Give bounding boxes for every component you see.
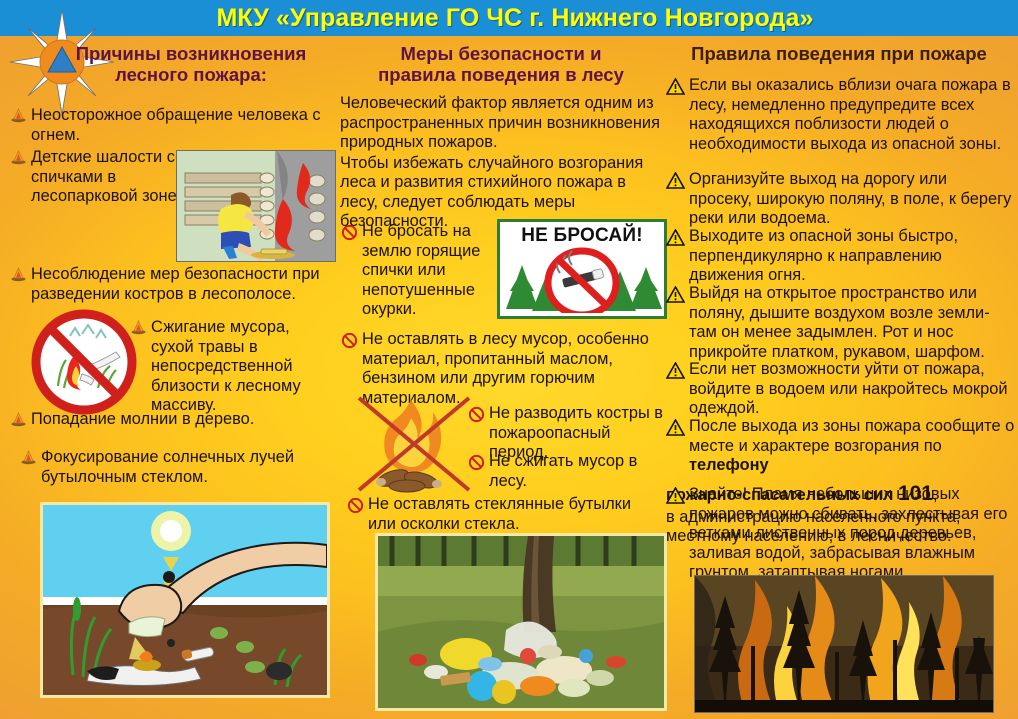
campfire-bullet-icon xyxy=(20,450,37,465)
image-boy-fire xyxy=(176,150,336,262)
image-no-littering-sign: НЕ БРОСАЙ! xyxy=(497,219,667,319)
campfire-bullet-icon xyxy=(10,267,27,282)
cause-item-1: Неосторожное обращение человека с огнем. xyxy=(10,106,328,145)
behaviour-heading: Правила поведения при пожаре xyxy=(664,44,1014,65)
warning-triangle-bullet-icon xyxy=(666,172,685,189)
behaviour-item-5: Если нет возможности уйти от пожара, вой… xyxy=(666,360,1014,419)
campfire-bullet-icon xyxy=(10,108,27,123)
prohibition-bullet-icon xyxy=(468,454,485,471)
sign-label: НЕ БРОСАЙ! xyxy=(500,225,664,247)
poster-root: МКУ «Управление ГО ЧС г. Нижнего Новгоро… xyxy=(0,0,1018,719)
cause-item-3: Несоблюдение мер безопасности при развед… xyxy=(10,265,330,304)
warning-triangle-bullet-icon xyxy=(666,487,685,504)
behaviour-item-2: Организуйте выход на дорогу или просеку,… xyxy=(666,170,1014,229)
column-fire-behaviour: Правила поведения при пожаре xyxy=(664,44,1014,65)
column-safety-measures: Меры безопасности и правила поведения в … xyxy=(340,44,662,85)
campfire-bullet-icon xyxy=(10,412,27,427)
prohibition-bullet-icon xyxy=(341,332,358,349)
image-sun-through-glass xyxy=(40,502,330,698)
safety-item-1: Не бросать на землю горящие спички или н… xyxy=(341,222,493,320)
warning-triangle-bullet-icon xyxy=(666,362,685,379)
campfire-bullet-icon xyxy=(10,150,27,165)
behaviour-item-1: Если вы оказались вблизи очага пожара в … xyxy=(666,76,1014,154)
image-litter-in-forest xyxy=(375,533,667,711)
safety-item-4: Не сжигать мусор в лесу. xyxy=(468,452,668,491)
behaviour-know-item: Знайте! Пламя небольших низовых пожаров … xyxy=(666,485,1014,583)
warning-triangle-bullet-icon xyxy=(666,286,685,303)
warning-triangle-bullet-icon xyxy=(666,419,685,436)
emergency-bold-phone: телефону xyxy=(689,456,769,474)
image-forest-fire xyxy=(694,575,994,713)
cause-item-2: Детские шалости со спичками в лесопарков… xyxy=(10,148,185,207)
behaviour-item-4: Выйдя на открытое пространство или полян… xyxy=(666,284,1016,362)
emergency-lead: После выхода из зоны пожара сообщите о м… xyxy=(689,417,1014,455)
warning-triangle-bullet-icon xyxy=(666,229,685,246)
cause-item-6: Фокусирование солнечных лучей бутылочным… xyxy=(20,448,332,487)
safety-item-5: Не оставлять стеклянные бутылки или оско… xyxy=(347,495,657,534)
prohibition-bullet-icon xyxy=(347,497,364,514)
image-no-campfire xyxy=(355,392,473,496)
safety-intro: Человеческий фактор является одним из ра… xyxy=(340,94,666,233)
warning-triangle-bullet-icon xyxy=(666,78,685,95)
column-causes: Причины возникновения лесного пожара: xyxy=(8,44,338,85)
cause-item-4: Сжигание мусора, сухой травы в непосредс… xyxy=(130,318,330,416)
causes-heading: Причины возникновения лесного пожара: xyxy=(8,44,338,85)
image-no-burning-grass-sign xyxy=(28,308,140,416)
prohibition-bullet-icon xyxy=(341,224,358,241)
page-title: МКУ «Управление ГО ЧС г. Нижнего Новгоро… xyxy=(120,0,910,36)
prohibition-bullet-icon xyxy=(468,406,485,423)
behaviour-item-3: Выходите из опасной зоны быстро, перпенд… xyxy=(666,227,1014,286)
safety-heading: Меры безопасности и правила поведения в … xyxy=(340,44,662,85)
safety-intro-p1: Человеческий фактор является одним из ра… xyxy=(340,94,666,153)
